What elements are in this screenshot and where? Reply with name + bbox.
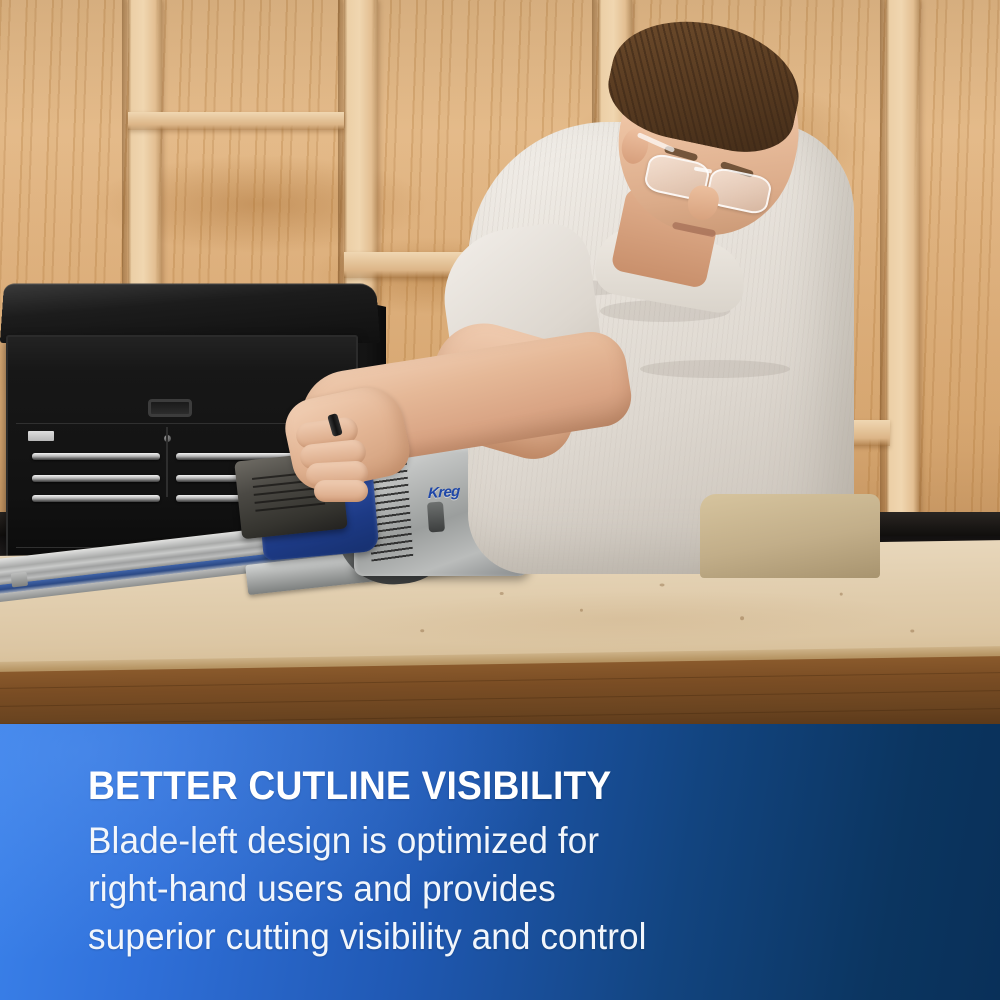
banner-body-copy: Blade-left design is optimized for right… [88, 817, 954, 961]
bench-grain [0, 672, 1000, 689]
wall-header-board [128, 112, 344, 130]
sheet-speck [420, 629, 424, 632]
banner-body-line-3: superior cutting visibility and control [88, 913, 954, 961]
bench-grain [0, 690, 1000, 707]
drawer-divider [166, 427, 168, 497]
bench-grain [0, 708, 1000, 724]
saw-vent-slot [427, 501, 445, 532]
wall-stud [886, 0, 920, 600]
feature-banner: BETTER CUTLINE VISIBILITY Blade-left des… [0, 724, 1000, 1000]
sheet-speck [910, 629, 914, 632]
sheet-speck [840, 593, 843, 596]
finger [314, 480, 368, 502]
banner-body-line-1: Blade-left design is optimized for [88, 817, 954, 865]
banner-content: BETTER CUTLINE VISIBILITY Blade-left des… [0, 724, 1000, 961]
sheet-speck [580, 609, 583, 612]
kreg-brand-logo: Kreg [428, 483, 460, 502]
person-pants [700, 494, 880, 578]
sheet-speck [740, 616, 744, 620]
shirt-fold [640, 360, 790, 378]
drawer-pull[interactable] [32, 495, 160, 502]
drawer-pull[interactable] [32, 453, 160, 460]
product-photo: Kreg [0, 0, 1000, 724]
tool-chest-badge [28, 431, 54, 441]
banner-body-line-2: right-hand users and provides [88, 865, 954, 913]
wall-seam [880, 0, 885, 600]
product-feature-card: Kreg [0, 0, 1000, 1000]
drawer-pull[interactable] [32, 475, 160, 482]
sheet-speck [660, 583, 665, 586]
guide-track-end-stop [11, 572, 29, 588]
battery-rib [255, 495, 325, 504]
tool-chest-lid-handle[interactable] [148, 399, 192, 417]
banner-headline: BETTER CUTLINE VISIBILITY [88, 766, 936, 806]
battery-rib [255, 502, 325, 511]
